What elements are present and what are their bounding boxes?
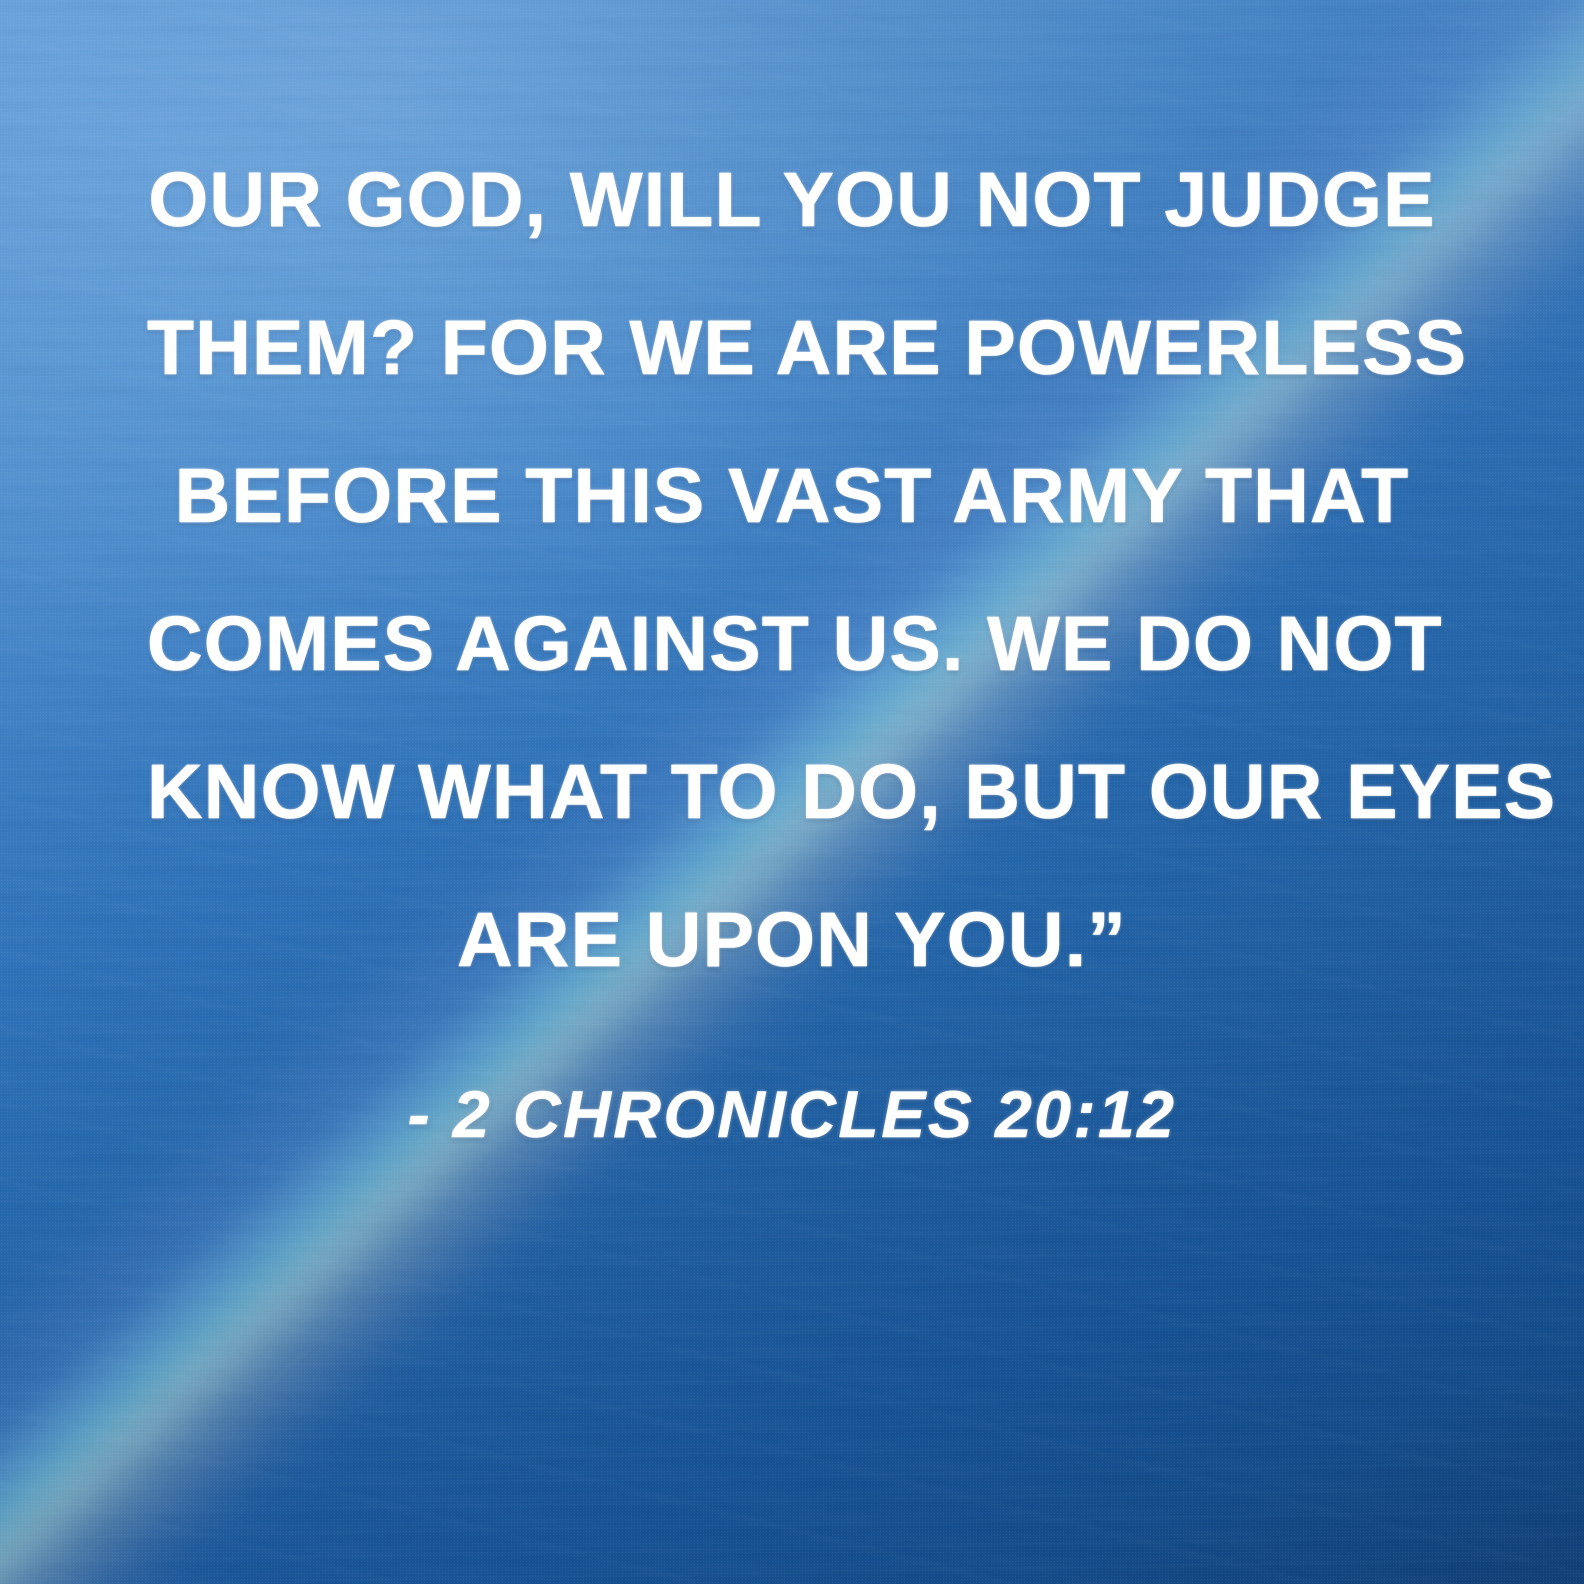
verse-line: BEFORE THIS VAST ARMY THATBEFORE THIS VA… bbox=[147, 422, 1437, 570]
verse-text-block: OUR GOD, WILL YOU NOT JUDGEOUR GOD, WILL… bbox=[147, 126, 1437, 1014]
verse-line: ARE UPON YOU.”ARE UPON YOU.” bbox=[147, 866, 1437, 1014]
verse-reference: - 2 CHRONICLES 20:12 bbox=[408, 1076, 1177, 1152]
verse-line-text: COMES AGAINST US. WE DO NOT bbox=[147, 601, 1443, 687]
verse-line-text: KNOW WHAT TO DO, BUT OUR EYES bbox=[147, 749, 1556, 835]
verse-line: COMES AGAINST US. WE DO NOTCOMES AGAINST… bbox=[147, 570, 1437, 718]
verse-line: OUR GOD, WILL YOU NOT JUDGEOUR GOD, WILL… bbox=[147, 126, 1437, 274]
verse-line: THEM? FOR WE ARE POWERLESSTHEM? FOR WE A… bbox=[147, 274, 1437, 422]
verse-line-text: OUR GOD, WILL YOU NOT JUDGE bbox=[148, 157, 1435, 243]
verse-line-text: ARE UPON YOU.” bbox=[457, 897, 1127, 983]
verse-image-canvas: OUR GOD, WILL YOU NOT JUDGEOUR GOD, WILL… bbox=[0, 0, 1584, 1584]
text-layer: OUR GOD, WILL YOU NOT JUDGEOUR GOD, WILL… bbox=[0, 0, 1584, 1584]
verse-line-text: THEM? FOR WE ARE POWERLESS bbox=[147, 305, 1467, 391]
verse-line: KNOW WHAT TO DO, BUT OUR EYESKNOW WHAT T… bbox=[147, 718, 1437, 866]
verse-line-text: BEFORE THIS VAST ARMY THAT bbox=[175, 453, 1410, 539]
